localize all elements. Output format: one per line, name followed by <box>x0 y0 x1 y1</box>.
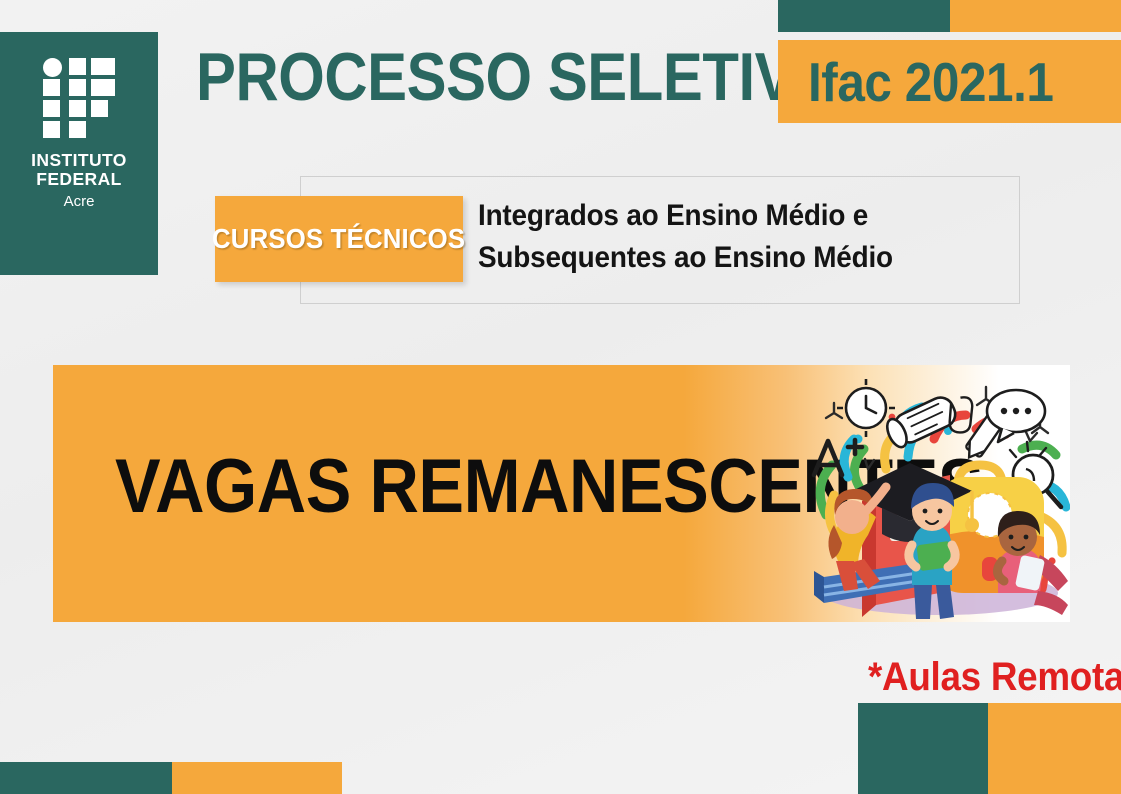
main-banner: VAGAS REMANESCENTES <box>53 365 1070 622</box>
students-education-illustration-icon <box>790 365 1070 622</box>
decor-bar-bottom-right-teal <box>858 703 988 794</box>
decor-bar-bottom-right-orange <box>988 703 1121 794</box>
institution-name: INSTITUTO FEDERAL <box>31 151 127 189</box>
institution-campus: Acre <box>64 193 95 210</box>
institution-name-line2: FEDERAL <box>31 170 127 189</box>
year-badge-label: Ifac 2021.1 <box>808 53 1054 111</box>
courses-description-line2: Subsequentes ao Ensino Médio <box>478 237 980 279</box>
decor-bar-top-right-teal <box>778 0 950 32</box>
courses-description-line1: Integrados ao Ensino Médio e <box>478 195 980 237</box>
page-title: PROCESSO SELETIVO <box>196 41 840 113</box>
decor-bar-top-right-orange <box>950 0 1121 32</box>
institution-logo-panel: INSTITUTO FEDERAL Acre <box>0 32 158 275</box>
institution-name-line1: INSTITUTO <box>31 151 127 170</box>
instituto-federal-logo-icon <box>43 58 115 138</box>
courses-tag-label: CURSOS TÉCNICOS <box>212 223 465 255</box>
courses-description: Integrados ao Ensino Médio e Subsequente… <box>478 195 980 279</box>
remote-classes-note: *Aulas Remotas <box>868 655 1121 699</box>
decor-bar-bottom-left-orange <box>172 762 342 794</box>
courses-tag: CURSOS TÉCNICOS <box>215 196 463 282</box>
poster-canvas: INSTITUTO FEDERAL Acre PROCESSO SELETIVO… <box>0 0 1121 794</box>
year-badge: Ifac 2021.1 <box>778 40 1121 123</box>
decor-bar-bottom-left-teal <box>0 762 172 794</box>
